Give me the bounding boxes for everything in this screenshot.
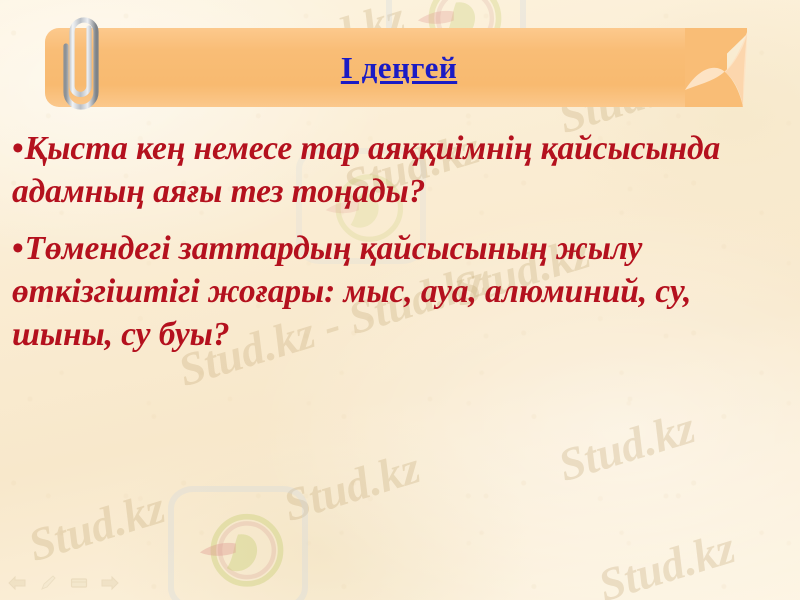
bullet-text: Төмендегі заттардың қайсысының жылу өткі… xyxy=(12,230,691,353)
bullet-marker: • xyxy=(12,230,25,267)
bullet-text: Қыста кең немесе тар аяққиімнің қайсысын… xyxy=(12,130,720,210)
pen-tool-button[interactable] xyxy=(37,574,59,592)
bullet-item: •Төмендегі заттардың қайсысының жылу өтк… xyxy=(12,228,796,357)
pen-icon xyxy=(39,575,57,591)
right-arrow-icon xyxy=(100,575,120,591)
page-title: I деңгей xyxy=(307,50,457,86)
presentation-slide: Stud.kz Stud.kz Stud.kz Stud.kz Stud.kz … xyxy=(0,0,800,600)
left-arrow-icon xyxy=(7,575,27,591)
bullet-item: •Қыста кең немесе тар аяққиімнің қайсысы… xyxy=(12,128,796,214)
slide-navigation xyxy=(6,574,121,592)
watermark-text: Stud.kz xyxy=(277,440,426,531)
next-slide-button[interactable] xyxy=(99,574,121,592)
slide-body: •Қыста кең немесе тар аяққиімнің қайсысы… xyxy=(12,128,796,370)
hummingbird-icon xyxy=(174,492,302,600)
slide-menu-button[interactable] xyxy=(68,574,90,592)
rectangle-icon xyxy=(70,576,88,590)
bullet-marker: • xyxy=(12,130,25,167)
watermark-text: Stud.kz xyxy=(592,520,741,600)
previous-slide-button[interactable] xyxy=(6,574,28,592)
hummingbird-logo-watermark xyxy=(168,486,308,600)
watermark-text: Stud.kz xyxy=(22,480,171,571)
title-banner: I деңгей xyxy=(45,28,755,107)
paperclip-icon xyxy=(63,16,103,112)
banner-title-area: I деңгей xyxy=(45,28,719,107)
watermark-text: Stud.kz xyxy=(552,400,701,491)
